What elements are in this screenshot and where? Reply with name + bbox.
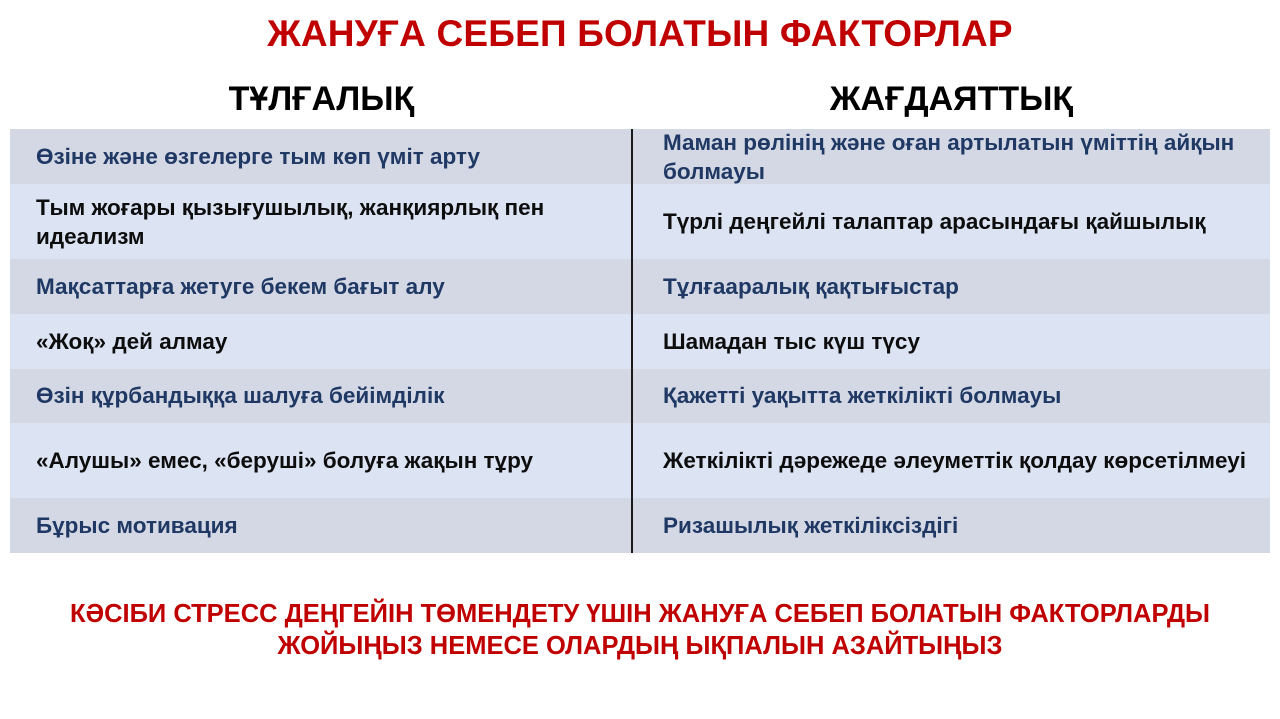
column-header-personal: ТҰЛҒАЛЫҚ (10, 76, 633, 126)
table-cell-situational: Шамадан тыс күш түсу (633, 314, 1270, 369)
table-row: «Жоқ» дей алмау Шамадан тыс күш түсу (10, 314, 1270, 369)
table-cell-situational: Ризашылық жеткіліксіздігі (633, 498, 1270, 553)
table-row: «Алушы» емес, «беруші» болуға жақын тұру… (10, 423, 1270, 498)
column-header-situational: ЖАҒДАЯТТЫҚ (633, 76, 1270, 126)
table-cell-situational: Қажетті уақытта жеткілікті болмауы (633, 369, 1270, 424)
table-cell-personal: Бұрыс мотивация (10, 498, 633, 553)
footer-note: КӘСІБИ СТРЕСС ДЕҢГЕЙІН ТӨМЕНДЕТУ ҮШІН ЖА… (30, 598, 1250, 662)
table-cell-situational: Түрлі деңгейлі талаптар арасындағы қайшы… (633, 184, 1270, 259)
table-cell-personal: Өзін құрбандыққа шалуға бейімділік (10, 369, 633, 424)
table-cell-personal: «Жоқ» дей алмау (10, 314, 633, 369)
table-cell-personal: Тым жоғары қызығушылық, жанқиярлық пен и… (10, 184, 633, 259)
table-row: Мақсаттарға жетуге бекем бағыт алу Тұлға… (10, 259, 1270, 314)
table-cell-situational: Тұлғааралық қақтығыстар (633, 259, 1270, 314)
table-row: Тым жоғары қызығушылық, жанқиярлық пен и… (10, 184, 1270, 259)
table-row: Бұрыс мотивация Ризашылық жеткіліксіздіг… (10, 498, 1270, 553)
footer-line-2: ЖОЙЫҢЫЗ НЕМЕСЕ ОЛАРДЫҢ ЫҚПАЛЫН АЗАЙТЫҢЫЗ (30, 630, 1250, 662)
table-cell-personal: «Алушы» емес, «беруші» болуға жақын тұру (10, 423, 633, 498)
column-headers: ТҰЛҒАЛЫҚ ЖАҒДАЯТТЫҚ (10, 76, 1270, 126)
table-cell-situational: Жеткілікті дәрежеде әлеуметтік қолдау кө… (633, 423, 1270, 498)
factors-table: Өзіне және өзгелерге тым көп үміт арту М… (10, 129, 1270, 553)
footer-line-1: КӘСІБИ СТРЕСС ДЕҢГЕЙІН ТӨМЕНДЕТУ ҮШІН ЖА… (30, 598, 1250, 630)
page-title: ЖАНУҒА СЕБЕП БОЛАТЫН ФАКТОРЛАР (0, 12, 1280, 56)
table-cell-personal: Мақсаттарға жетуге бекем бағыт алу (10, 259, 633, 314)
table-row: Өзіне және өзгелерге тым көп үміт арту М… (10, 129, 1270, 184)
table-row: Өзін құрбандыққа шалуға бейімділік Қажет… (10, 369, 1270, 424)
table-cell-personal: Өзіне және өзгелерге тым көп үміт арту (10, 129, 633, 184)
table-cell-situational: Маман рөлінің және оған артылатын үмітті… (633, 129, 1270, 184)
